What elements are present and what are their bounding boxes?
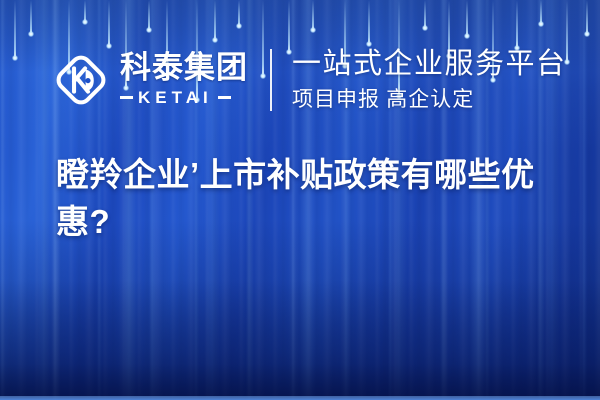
bottom-shadow-overlay: [0, 280, 600, 400]
light-streak-icon: [30, 0, 32, 34]
logo-company-cn: 科泰集团: [120, 52, 248, 85]
light-streak-icon: [586, 0, 588, 34]
slogan-block: 一站式企业服务平台 项目申报 高企认定: [292, 48, 567, 112]
light-streak-icon: [14, 0, 16, 58]
brand-logo[interactable]: 科泰集团 KETAI: [52, 51, 248, 109]
light-streak-icon: [424, 0, 426, 28]
headline-title: 瞪羚企业’上市补贴政策有哪些优惠?: [56, 152, 576, 246]
diamond-kt-monogram-icon: [52, 51, 110, 109]
logo-wordmark: 科泰集团 KETAI: [120, 52, 248, 108]
logo-dash-left-icon: [120, 96, 133, 99]
light-streak-icon: [148, 0, 150, 30]
light-streak-icon: [238, 0, 240, 26]
slogan-main: 一站式企业服务平台: [292, 48, 567, 81]
slogan-sub: 项目申报 高企认定: [292, 87, 567, 112]
light-streak-icon: [84, 0, 86, 22]
logo-company-en: KETAI: [138, 88, 213, 108]
bottom-edge-line: [0, 396, 600, 400]
light-streak-icon: [540, 0, 542, 24]
promo-banner: 科泰集团 KETAI 一站式企业服务平台 项目申报 高企认定 瞪羚企业’上市补贴…: [0, 0, 600, 400]
banner-header: 科泰集团 KETAI 一站式企业服务平台 项目申报 高企认定: [52, 38, 567, 122]
logo-company-en-row: KETAI: [120, 88, 248, 108]
light-streak-icon: [214, 0, 216, 40]
light-streak-icon: [466, 0, 468, 36]
header-divider: [270, 49, 272, 111]
logo-dash-right-icon: [218, 96, 231, 99]
light-streak-icon: [312, 0, 314, 30]
